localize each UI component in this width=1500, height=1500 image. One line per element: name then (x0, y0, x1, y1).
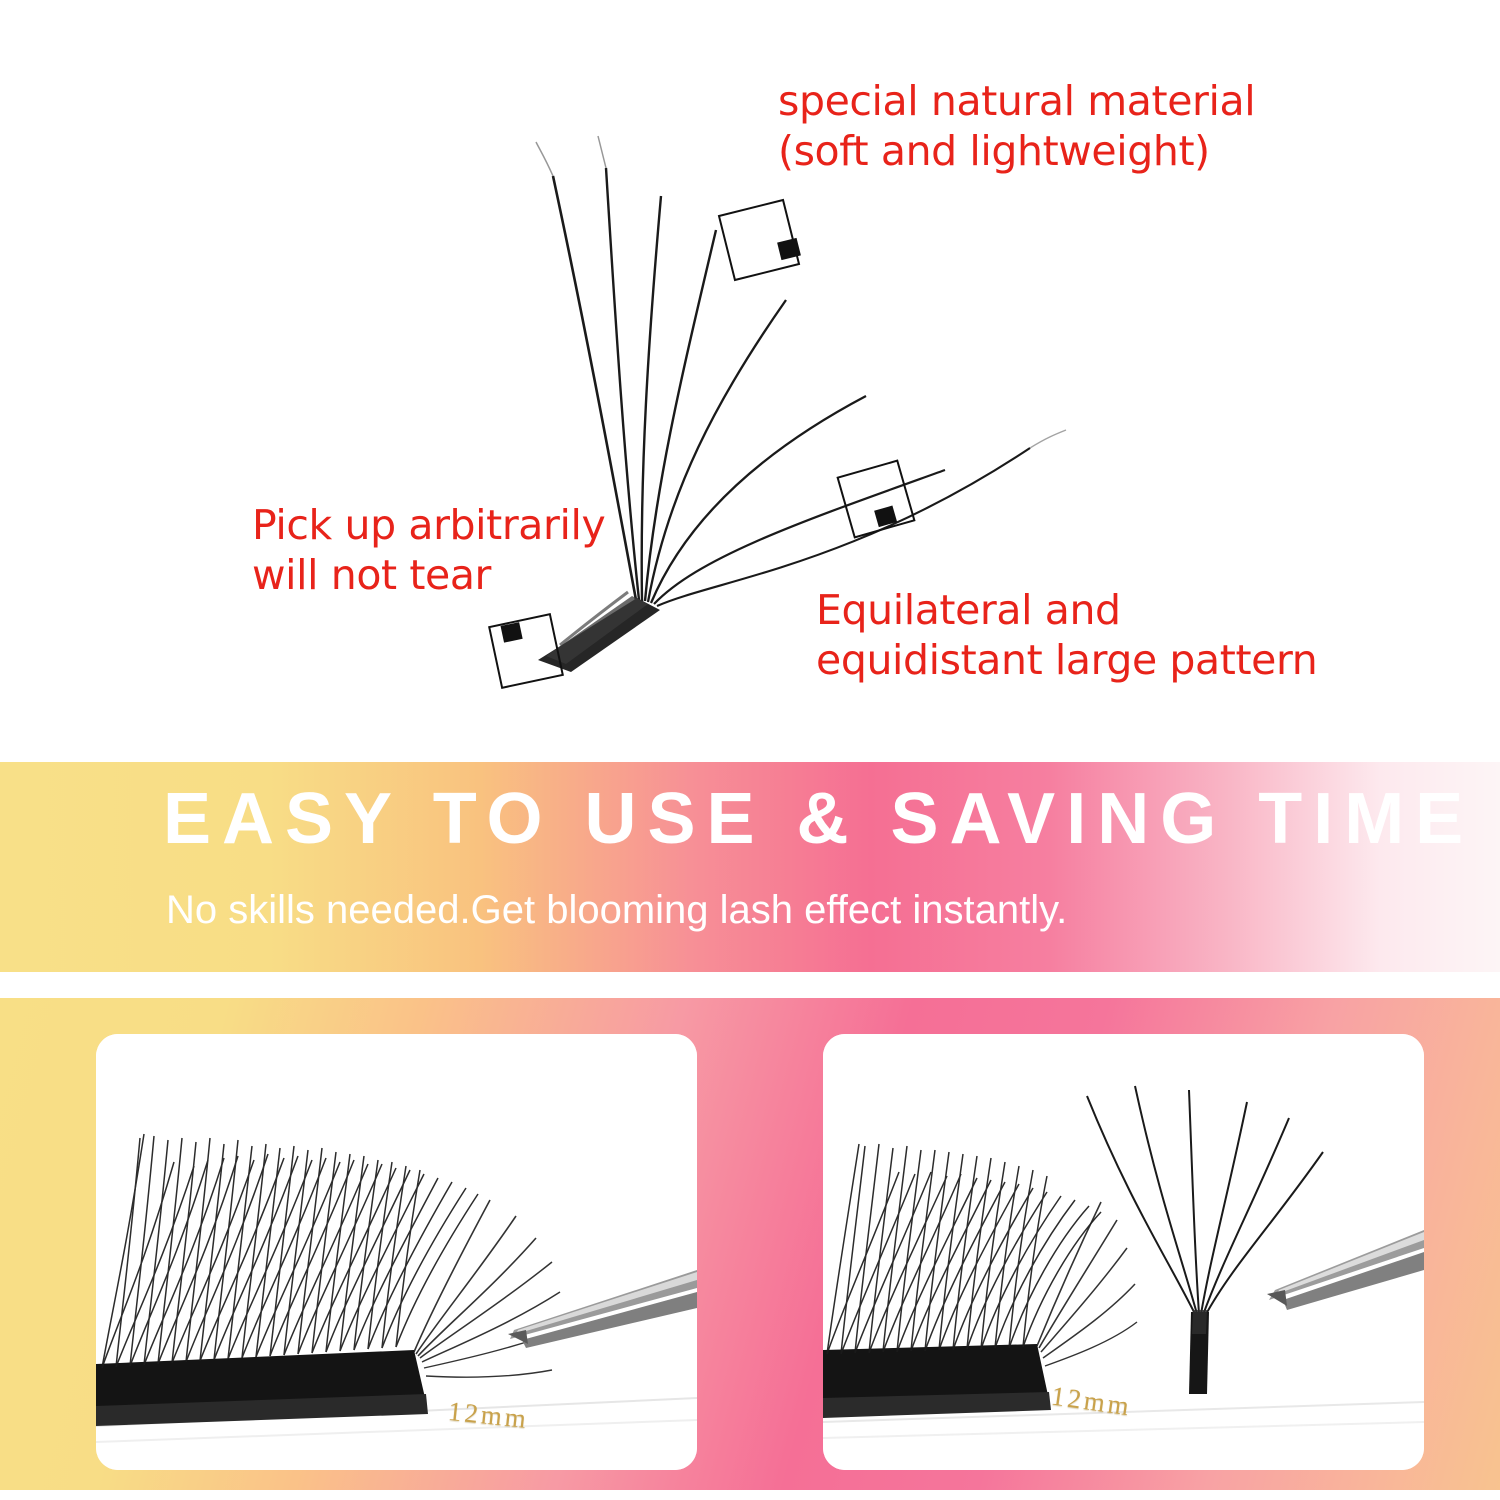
photo-card-lash-tray-tweezers[interactable]: 12mm (96, 1034, 697, 1470)
banner-title: EASY TO USE & SAVING TIME (163, 778, 1474, 860)
lash-fan-base (538, 592, 660, 672)
photo-lash-tray-with-tweezers (96, 1034, 697, 1470)
headline-banner: EASY TO USE & SAVING TIME No skills need… (0, 762, 1500, 972)
callout-pick-up-arbitrarily: Pick up arbitrarily will not tear (252, 500, 605, 600)
lash-fibers (536, 136, 1066, 606)
callout-marker-base (489, 614, 563, 688)
product-photo-section: 12mm (0, 998, 1500, 1490)
hero-diagram-section: special natural material (soft and light… (0, 0, 1500, 762)
callout-marker-right (838, 461, 915, 538)
banner-subtitle: No skills needed.Get blooming lash effec… (166, 888, 1067, 933)
callout-marker-top (719, 200, 801, 280)
callout-special-natural-material: special natural material (soft and light… (778, 76, 1255, 176)
photo-card-lash-tray-picked-fan[interactable]: 12mm (823, 1034, 1424, 1470)
callout-equilateral-equidistant: Equilateral and equidistant large patter… (816, 585, 1317, 685)
